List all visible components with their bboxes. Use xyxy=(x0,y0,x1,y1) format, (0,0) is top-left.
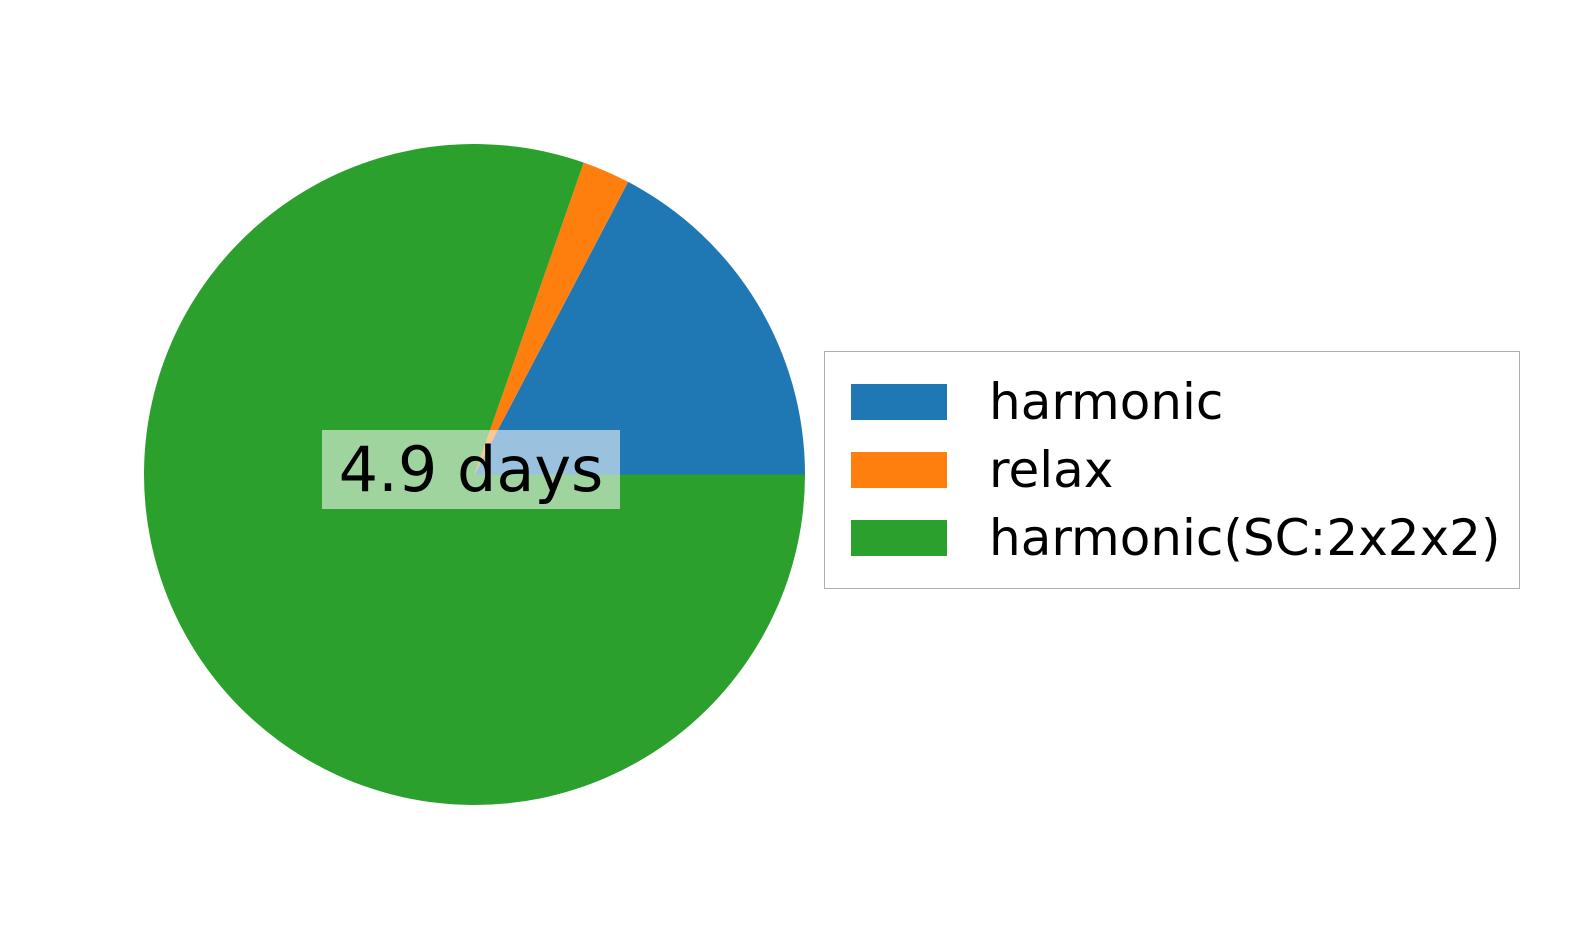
legend-label: harmonic(SC:2x2x2) xyxy=(989,513,1501,563)
legend-label: harmonic xyxy=(989,377,1223,427)
center-label-text: 4.9 days xyxy=(339,439,604,501)
legend-swatch-icon xyxy=(851,384,947,420)
legend-label: relax xyxy=(989,445,1113,495)
legend-swatch-icon xyxy=(851,520,947,556)
legend-entry-harmonic-sc[interactable]: harmonic(SC:2x2x2) xyxy=(851,510,1499,566)
center-label-box: 4.9 days xyxy=(322,430,620,509)
legend-entry-harmonic[interactable]: harmonic xyxy=(851,374,1499,430)
figure-canvas: 4.9 days harmonic relax harmonic(SC:2x2x… xyxy=(0,0,1584,951)
legend-swatch-icon xyxy=(851,452,947,488)
legend-entry-relax[interactable]: relax xyxy=(851,442,1499,498)
legend-box: harmonic relax harmonic(SC:2x2x2) xyxy=(824,351,1520,589)
